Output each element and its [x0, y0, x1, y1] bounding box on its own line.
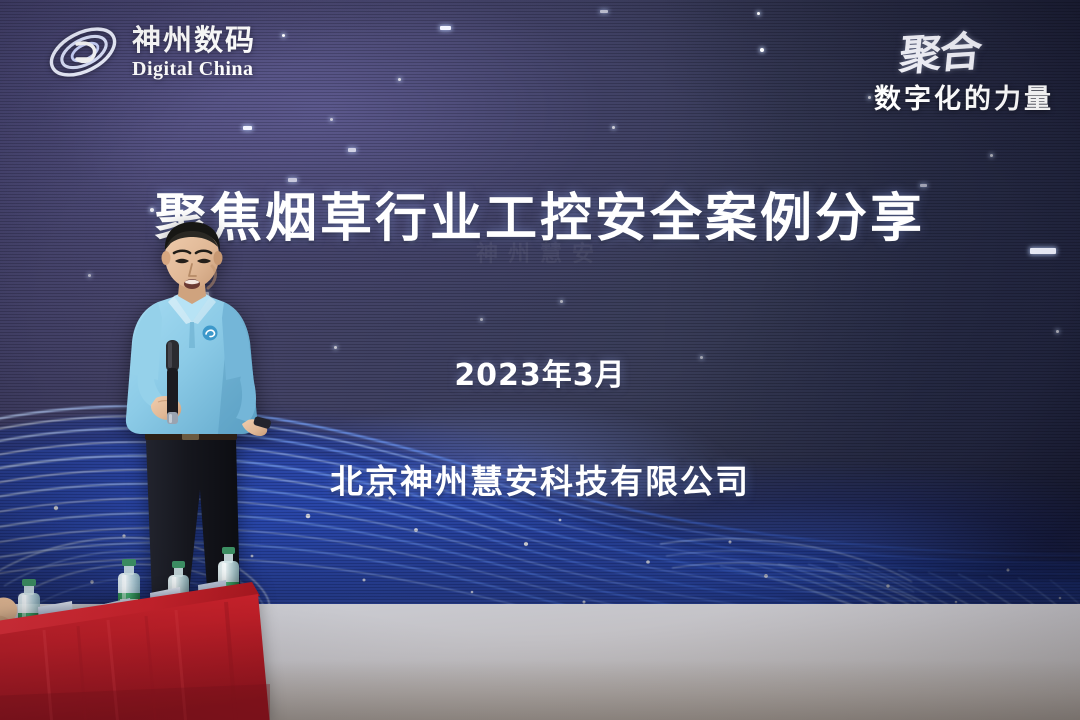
logo-chinese-name: 神州数码	[132, 26, 256, 55]
red-table-drape	[0, 556, 280, 720]
digital-china-swirl-logo-icon	[44, 22, 122, 82]
conference-stage-photo: 神州数码 Digital China 聚合 数字化的力量 聚焦烟草行业工控安全案…	[0, 0, 1080, 720]
foreground-table	[0, 556, 280, 720]
logo-text-block: 神州数码 Digital China	[132, 26, 256, 79]
microphone-icon	[166, 340, 179, 424]
slogan-brush-text: 聚合	[897, 18, 984, 84]
event-slogan: 聚合 数字化的力量	[874, 20, 1054, 116]
logo-english-name: Digital China	[132, 59, 256, 79]
digital-china-logo: 神州数码 Digital China	[44, 22, 256, 82]
shirt-chest-logo	[203, 326, 218, 341]
